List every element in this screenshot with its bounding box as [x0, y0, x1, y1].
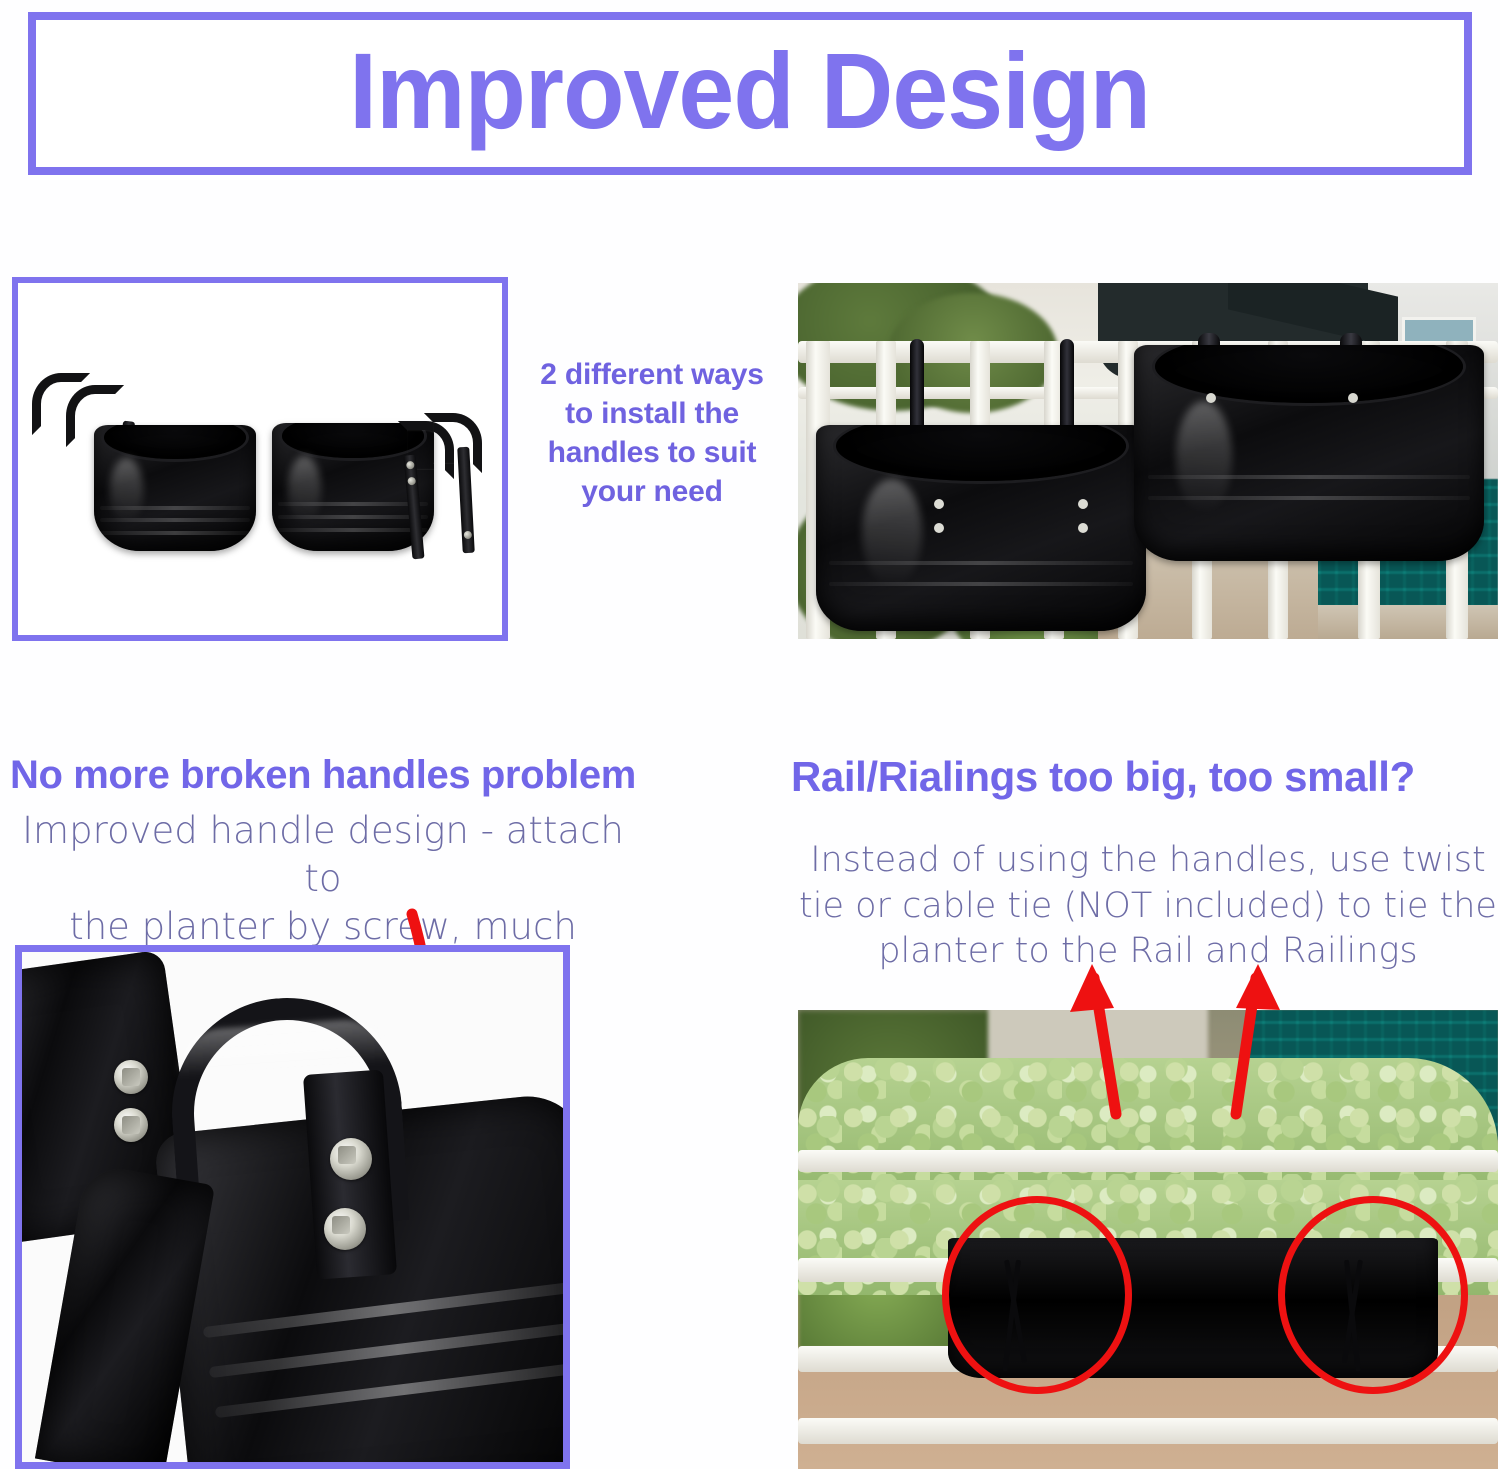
hanging-planter-front: [816, 425, 1146, 631]
right-body-line-3: planter to the Rail and Railings: [798, 929, 1498, 975]
rib-line: [1148, 475, 1470, 479]
screw-icon: [1348, 393, 1358, 403]
caption-line-1: 2 different ways: [518, 355, 786, 394]
screw-icon: [464, 531, 472, 539]
red-arrow-left: [1020, 962, 1140, 1122]
highlight: [862, 479, 921, 586]
infographic-page: Improved Design: [0, 0, 1500, 1469]
rib-line: [278, 528, 427, 532]
planter-body-left: [94, 425, 256, 551]
screw-icon-highlighted: [330, 1138, 372, 1180]
screw-icon: [1206, 393, 1216, 403]
product-image-frame: [12, 277, 508, 641]
plant-foliage-upper: [798, 1058, 1498, 1198]
caption-line-4: your need: [518, 472, 786, 511]
highlight: [110, 458, 142, 524]
caption-line-3: handles to suit: [518, 433, 786, 472]
rib-line: [100, 518, 249, 522]
railing-bar: [798, 1150, 1498, 1172]
red-circle-left: [942, 1196, 1132, 1394]
handle-closeup-image-frame: [15, 945, 570, 1469]
screw-icon: [1078, 499, 1088, 509]
left-section-heading: No more broken handles problem: [10, 753, 636, 798]
page-title: Improved Design: [350, 37, 1151, 145]
install-ways-caption: 2 different ways to install the handles …: [518, 355, 786, 511]
screw-icon: [934, 523, 944, 533]
planter-left: [46, 379, 256, 559]
rib-line: [278, 515, 427, 519]
rib-line: [829, 561, 1133, 565]
red-circle-right: [1278, 1196, 1468, 1394]
right-section-body: Instead of using the handles, use twist …: [798, 838, 1498, 975]
rib-line: [278, 502, 427, 506]
right-body-line-2: tie or cable tie (NOT included) to tie t…: [798, 884, 1498, 930]
right-body-line-1: Instead of using the handles, use twist: [798, 838, 1498, 884]
highlight: [288, 456, 320, 523]
railing-bar: [798, 1418, 1498, 1444]
rib-line: [1148, 496, 1470, 500]
left-body-line-1: Improved handle design - attach to: [8, 807, 638, 903]
caption-line-2: to install the: [518, 394, 786, 433]
screw-icon: [406, 461, 415, 470]
product-photo-two-planters: [18, 283, 502, 635]
screw-icon: [934, 499, 944, 509]
screw-icon: [324, 1208, 366, 1250]
screw-icon: [1078, 523, 1088, 533]
right-section-heading: Rail/Rialings too big, too small?: [791, 753, 1415, 801]
title-banner: Improved Design: [28, 12, 1472, 175]
hook-handle-right-outer: [424, 413, 482, 473]
closeup-photo-handle-screws: [22, 952, 563, 1462]
screw-icon: [114, 1060, 148, 1094]
balcony-railing-photo: [798, 283, 1498, 639]
rib-line: [829, 582, 1133, 586]
red-arrow-right: [1208, 962, 1328, 1122]
screw-icon: [407, 477, 416, 486]
planter-right: [266, 395, 496, 575]
rib-line: [100, 506, 249, 510]
cable-tie-photo: [798, 1010, 1498, 1469]
rib-line: [100, 531, 249, 535]
hanging-planter-back: [1134, 345, 1484, 561]
screw-icon: [114, 1108, 148, 1142]
